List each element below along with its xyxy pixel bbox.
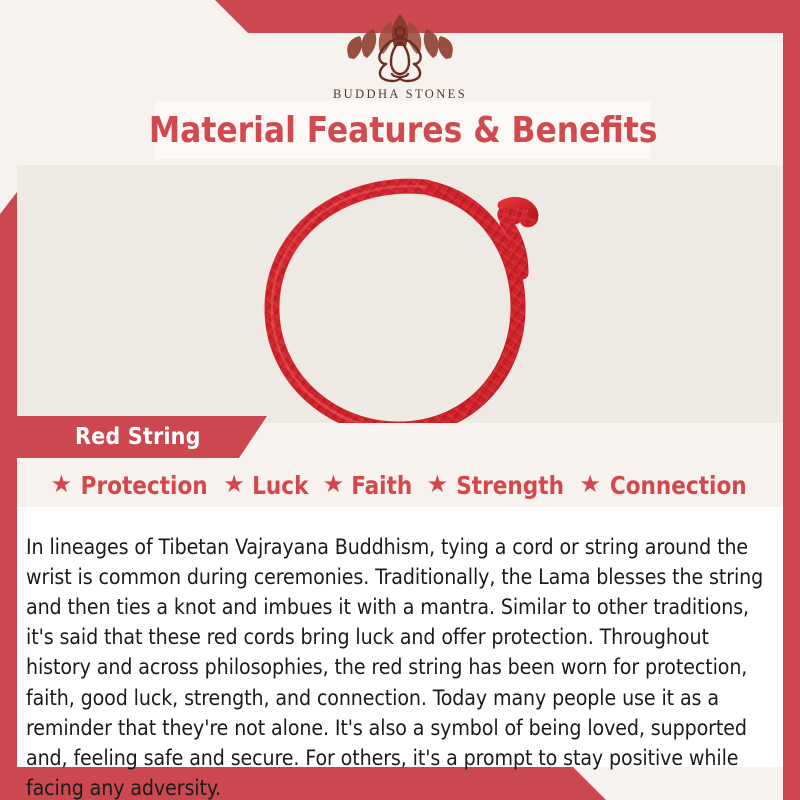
description-text: In lineages of Tibetan Vajrayana Buddhis… — [26, 533, 765, 800]
benefit-item-connection: ★ Connection — [579, 471, 749, 500]
star-icon: ★ — [223, 473, 245, 497]
benefit-label: Luck — [252, 471, 308, 500]
benefit-item-protection: ★ Protection — [51, 471, 211, 500]
section-ribbon-label: Red String — [17, 424, 201, 450]
page-title: Material Features & Benefits — [149, 110, 658, 151]
benefit-label: Faith — [351, 471, 412, 500]
section-ribbon: Red String — [17, 416, 267, 458]
poster-root: BUDDHA STONES Material Features & Benefi… — [0, 0, 800, 800]
red-string-bracelet-image — [230, 165, 570, 423]
brand-logo: BUDDHA STONES — [0, 12, 800, 102]
lotus-meditation-icon — [334, 12, 466, 86]
star-icon: ★ — [579, 473, 601, 497]
star-icon: ★ — [51, 473, 73, 497]
product-image-panel — [17, 165, 783, 423]
star-icon: ★ — [427, 473, 449, 497]
title-banner: Material Features & Benefits — [155, 101, 651, 159]
benefits-list: ★ Protection ★ Luck ★ Faith ★ Strength ★… — [17, 464, 783, 506]
benefit-label: Connection — [610, 471, 747, 500]
benefit-label: Strength — [456, 471, 564, 500]
benefit-item-luck: ★ Luck — [223, 471, 309, 500]
star-icon: ★ — [323, 473, 345, 497]
benefit-label: Protection — [81, 471, 208, 500]
benefit-item-strength: ★ Strength — [427, 471, 567, 500]
brand-name: BUDDHA STONES — [0, 87, 800, 102]
benefit-item-faith: ★ Faith — [323, 471, 414, 500]
decor-left-bar — [0, 192, 17, 800]
description-panel: In lineages of Tibetan Vajrayana Buddhis… — [17, 507, 783, 767]
decor-right-bar — [783, 33, 800, 800]
